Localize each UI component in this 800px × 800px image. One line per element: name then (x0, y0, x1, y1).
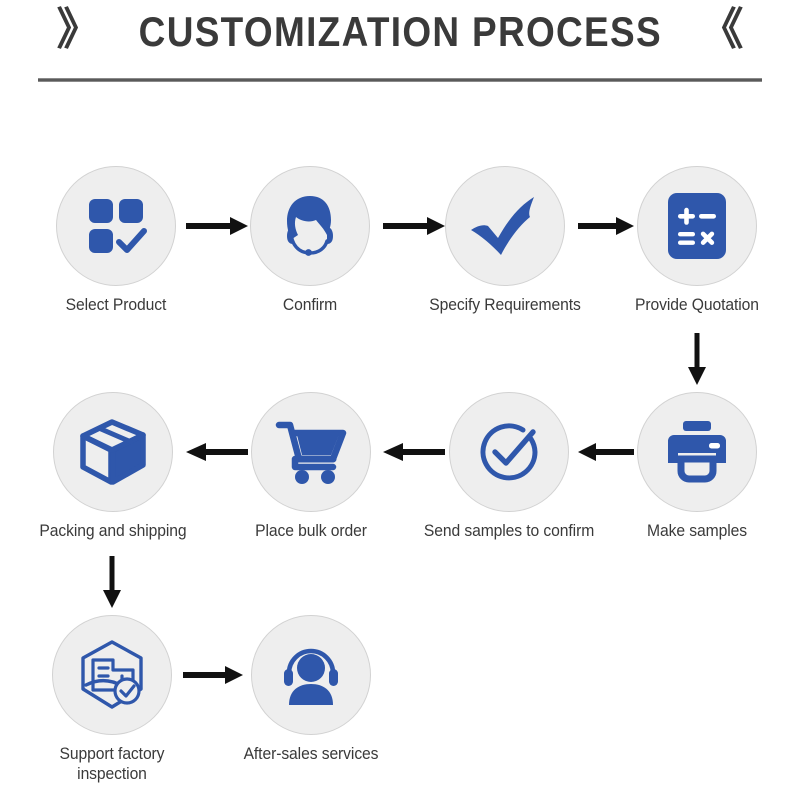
step-node-make-samples[interactable]: Make samples (602, 392, 792, 541)
page-header: 》CUSTOMIZATION PROCESS《 (0, 0, 800, 92)
step-label: Send samples to confirm (419, 521, 600, 541)
step-icon-bubble (52, 615, 172, 735)
title-divider (38, 78, 762, 82)
step-node-send-samples-to-confirm[interactable]: Send samples to confirm (414, 392, 604, 541)
step-icon-bubble (251, 392, 371, 512)
step-label: Place bulk order (221, 521, 402, 541)
check-circle-icon (473, 416, 545, 488)
step-label: Make samples (607, 521, 788, 541)
step-label: Select Product (26, 295, 207, 315)
step-label: Provide Quotation (607, 295, 788, 315)
step-label: Support factory inspection (22, 744, 203, 784)
step-icon-bubble (250, 166, 370, 286)
step-node-after-sales-services[interactable]: After-sales services (216, 615, 406, 764)
page-title: CUSTOMIZATION PROCESS (138, 8, 661, 56)
step-icon-bubble (445, 166, 565, 286)
step-icon-bubble (53, 392, 173, 512)
shopping-cart-icon (275, 419, 347, 485)
grid-check-icon (83, 193, 149, 259)
chevron-left-icon: 》 (57, 8, 101, 52)
step-node-packing-and-shipping[interactable]: Packing and shipping (18, 392, 208, 541)
factory-shield-check-icon (76, 639, 148, 711)
step-node-place-bulk-order[interactable]: Place bulk order (216, 392, 406, 541)
step-icon-bubble (449, 392, 569, 512)
step-icon-bubble (637, 392, 757, 512)
step-node-specify-requirements[interactable]: Specify Requirements (410, 166, 600, 315)
support-person-icon (276, 643, 346, 707)
step-label: After-sales services (221, 744, 402, 764)
step-label: Packing and shipping (23, 521, 204, 541)
step-node-support-factory-inspection[interactable]: Support factory inspection (17, 615, 207, 784)
headset-agent-icon (275, 191, 345, 261)
step-node-provide-quotation[interactable]: Provide Quotation (602, 166, 792, 315)
chevron-right-icon: 《 (699, 8, 743, 52)
step-node-confirm[interactable]: Confirm (215, 166, 405, 315)
checkmark-icon (468, 193, 542, 259)
arrow-down-packing-to-factory-inspection (101, 556, 123, 608)
step-icon-bubble (637, 166, 757, 286)
printer-icon (661, 419, 733, 485)
step-label: Specify Requirements (415, 295, 596, 315)
calculator-icon (666, 191, 728, 261)
title-row: 》CUSTOMIZATION PROCESS《 (0, 8, 800, 56)
step-label-line-2: inspection (22, 764, 203, 784)
arrow-down-quotation-to-make-samples (686, 333, 708, 385)
package-box-icon (78, 417, 148, 487)
customization-process-infographic: 》CUSTOMIZATION PROCESS《 Select Product (0, 0, 800, 800)
step-icon-bubble (56, 166, 176, 286)
step-label: Confirm (220, 295, 401, 315)
step-node-select-product[interactable]: Select Product (21, 166, 211, 315)
step-label-line-1: Support factory (22, 744, 203, 764)
step-icon-bubble (251, 615, 371, 735)
